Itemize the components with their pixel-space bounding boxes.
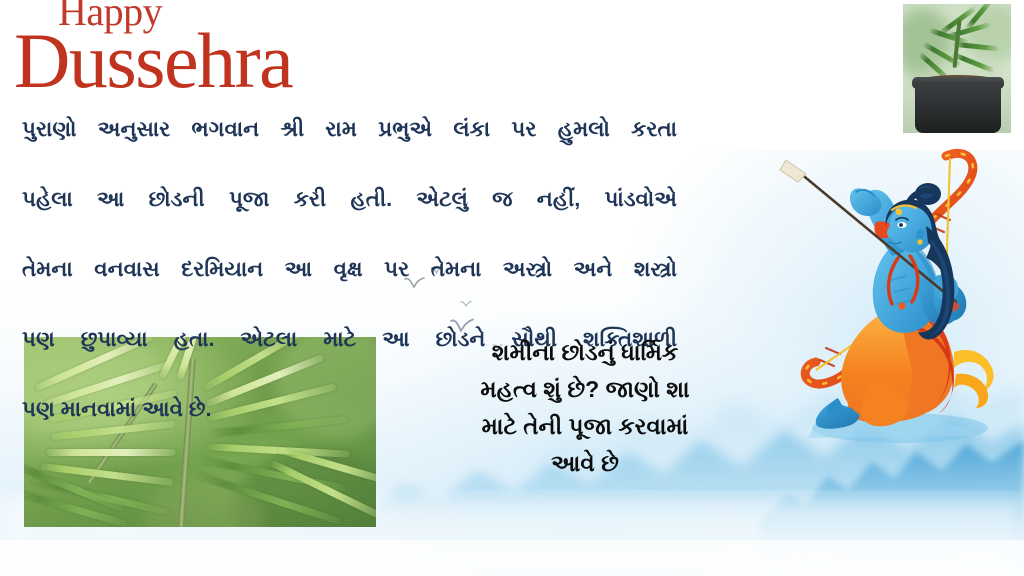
body-line: પુરાણો અનુસાર ભગવાન શ્રી રામ પ્રભુએ લંકા… xyxy=(22,112,677,182)
dussehra-poster: Happy Dussehra પુરાણો અનુસાર ભગવાન શ્રી … xyxy=(0,0,1024,576)
potted-shami-plant-photo xyxy=(903,4,1011,133)
caption-line: શમીના છોડનું ધાર્મિક xyxy=(415,334,755,371)
headline-festival: Dussehra xyxy=(14,22,292,100)
caption-line: આવે છે xyxy=(415,445,755,482)
caption-line: માટે તેની પૂજા કરવામાં xyxy=(415,408,755,445)
body-line: તેમના વનવાસ દરમિયાન આ વૃક્ષ પર તેમના અસ્… xyxy=(22,252,677,322)
caption-line: મહત્વ શું છે? જાણો શા xyxy=(415,371,755,408)
body-line: પહેલા આ છોડની પૂજા કરી હતી. એટલું જ નહીં… xyxy=(22,182,677,252)
lord-rama-illustration xyxy=(760,130,1024,460)
caption-headline: શમીના છોડનું ધાર્મિક મહત્વ શું છે? જાણો … xyxy=(415,334,755,482)
